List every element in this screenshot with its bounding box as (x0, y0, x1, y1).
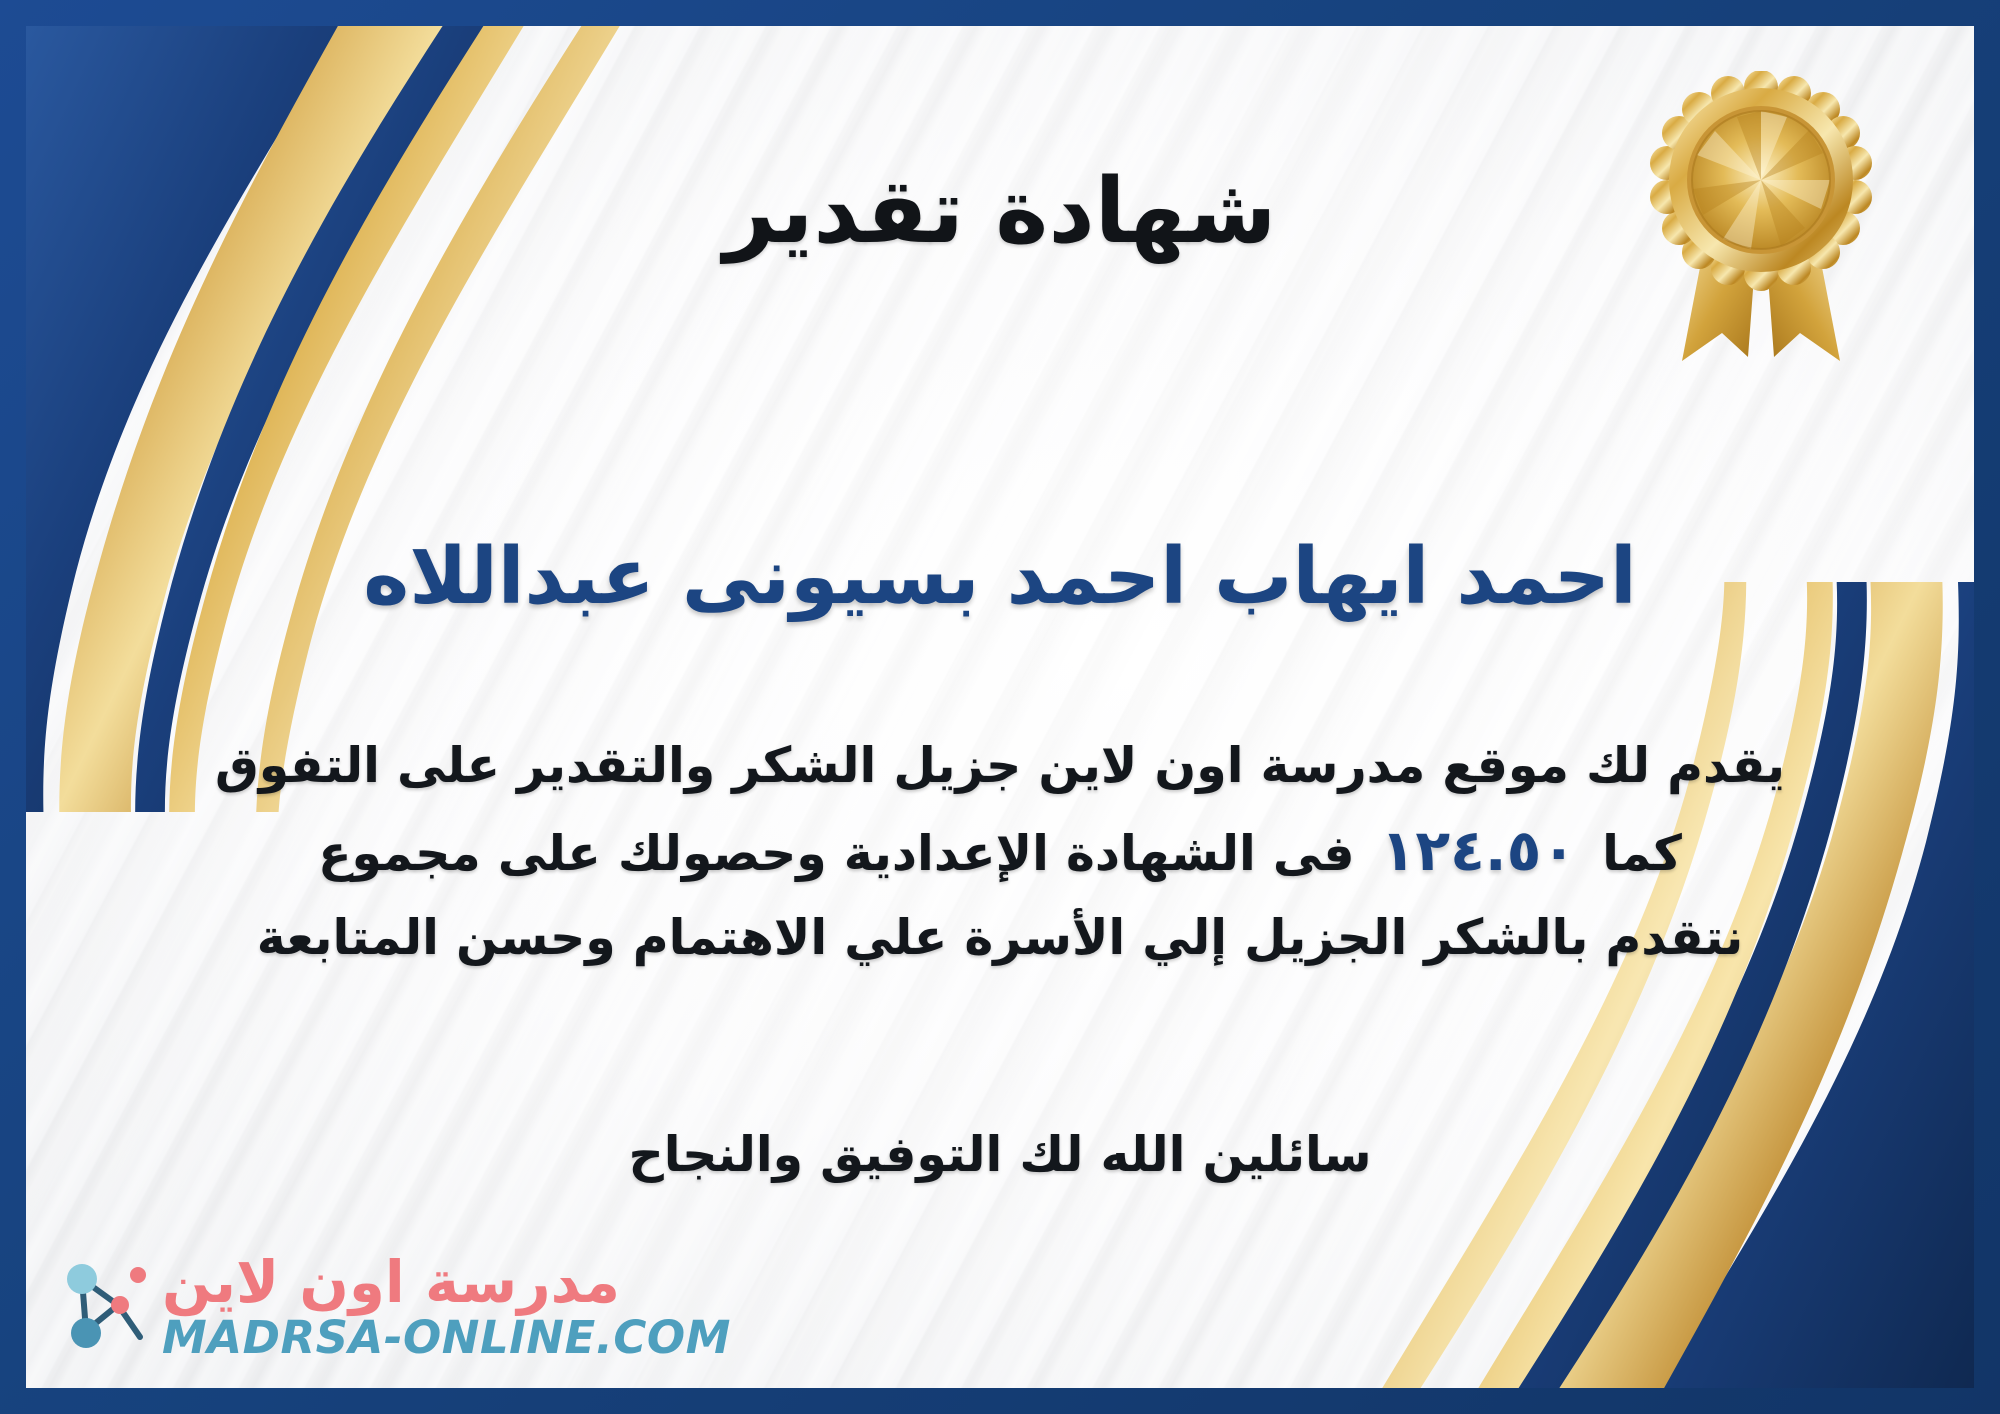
body-line-3: نتقدم بالشكر الجزيل إلي الأسرة علي الاهت… (86, 898, 1914, 977)
closing-line: سائلين الله لك التوفيق والنجاح (26, 1126, 1974, 1183)
corner-ribbon-bottom-right-icon (1206, 582, 1974, 1388)
logo-website-url[interactable]: MADRSA-ONLINE.COM (162, 1315, 731, 1360)
recipient-name: احمد ايهاب احمد بسيونى عبداللاه (26, 531, 1974, 623)
corner-ribbon-top-left-icon (26, 26, 776, 812)
body-line-1: يقدم لك موقع مدرسة اون لاين جزيل الشكر و… (86, 726, 1914, 805)
grade-value: ١٢٤.٥٠ (1355, 818, 1603, 884)
logo-arabic-name: مدرسة اون لاين (162, 1253, 620, 1311)
certificate-title: شهادة تقدير (26, 162, 1974, 261)
certificate-document: شهادة تقدير احمد ايهاب احمد بسيونى عبدال… (0, 0, 2000, 1414)
body-line-2: كما١٢٤.٥٠فى الشهادة الإعدادية وحصولك على… (86, 805, 1914, 897)
certificate-sheet: شهادة تقدير احمد ايهاب احمد بسيونى عبدال… (26, 26, 1974, 1388)
network-nodes-icon (60, 1255, 152, 1359)
body-line-2-after: كما (1602, 825, 1682, 882)
body-line-2-before: فى الشهادة الإعدادية وحصولك على مجموع (318, 825, 1355, 882)
logo-text-group: مدرسة اون لاين MADRSA-ONLINE.COM (162, 1253, 731, 1360)
site-logo[interactable]: مدرسة اون لاين MADRSA-ONLINE.COM (60, 1253, 731, 1360)
certificate-body: يقدم لك موقع مدرسة اون لاين جزيل الشكر و… (86, 726, 1914, 977)
